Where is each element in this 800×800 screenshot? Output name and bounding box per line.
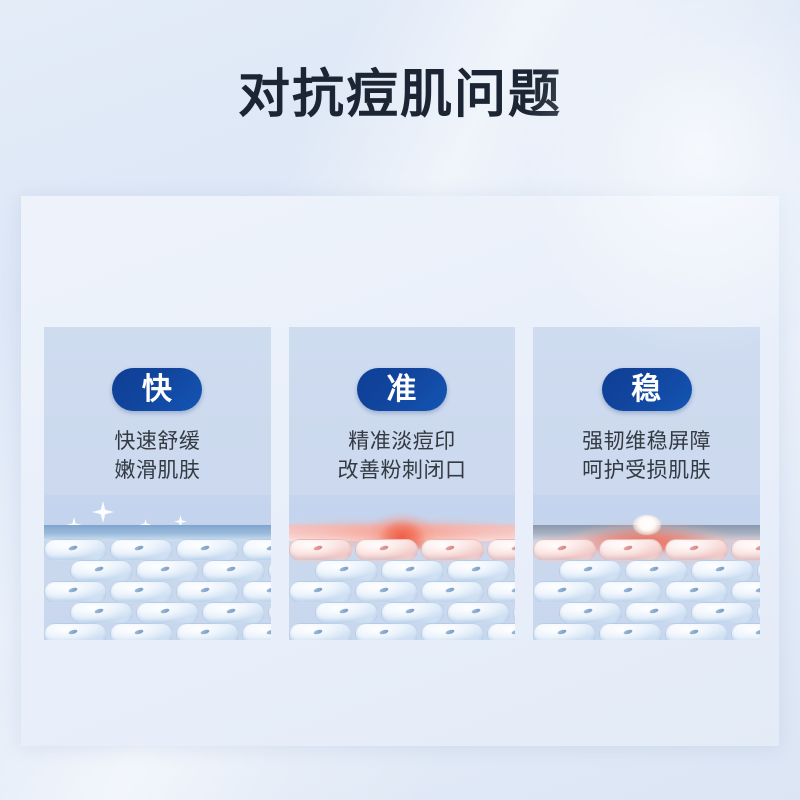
badge-label: 准 (387, 375, 418, 405)
skin-cell (44, 581, 107, 603)
panel-caption-precise: 精准淡痘印 改善粉刺闭口 (289, 427, 516, 485)
skin-cell (381, 560, 444, 582)
skin-cell (355, 581, 418, 603)
cell-row (44, 581, 271, 602)
panel-caption-fast: 快速舒缓 嫩滑肌肤 (44, 427, 271, 485)
promo-page: 对抗痘肌问题 快 快速舒缓 嫩滑肌肤 (0, 0, 800, 800)
cell-row (289, 581, 516, 602)
panel-caption-stable: 强韧维稳屏障 呵护受损肌肤 (533, 427, 760, 485)
skin-cell-grid (44, 539, 271, 640)
cell-row (44, 623, 271, 640)
skin-cell (757, 602, 760, 624)
skin-cell (731, 581, 760, 603)
skin-cell (202, 602, 265, 624)
feature-panel-stable[interactable]: 稳 强韧维稳屏障 呵护受损肌肤 (533, 327, 760, 640)
skin-cell (421, 623, 484, 640)
badge-pill-fast: 快 (112, 368, 202, 411)
skin-cell (625, 560, 688, 582)
skin-cell (665, 623, 728, 640)
skin-cell (691, 560, 754, 582)
skin-cell (176, 581, 239, 603)
cell-row (289, 623, 516, 640)
cell-row (289, 560, 516, 581)
skin-cell (447, 602, 510, 624)
skin-cell (268, 602, 271, 624)
feature-panel-row: 快 快速舒缓 嫩滑肌肤 (44, 327, 760, 640)
skin-cell (242, 581, 271, 603)
caption-line-1: 强韧维稳屏障 (533, 427, 760, 456)
skin-cell (533, 581, 596, 603)
cell-row (533, 539, 760, 560)
skin-cell (533, 539, 596, 561)
badge-label: 稳 (631, 375, 662, 405)
skin-illustration-pustule (533, 495, 760, 640)
cell-row (44, 560, 271, 581)
cell-row (533, 623, 760, 640)
skin-cell (289, 623, 352, 640)
skin-cell (665, 581, 728, 603)
skin-cell (289, 539, 352, 561)
skin-cell (268, 560, 271, 582)
caption-line-2: 改善粉刺闭口 (289, 456, 516, 485)
skin-cell (242, 539, 271, 561)
caption-line-1: 快速舒缓 (44, 427, 271, 456)
skin-cell (70, 560, 133, 582)
badge-pill-precise: 准 (357, 368, 447, 411)
cell-row (533, 560, 760, 581)
cell-row (44, 539, 271, 560)
feature-panel-fast[interactable]: 快 快速舒缓 嫩滑肌肤 (44, 327, 271, 640)
skin-cell (315, 560, 378, 582)
skin-cell (487, 623, 516, 640)
badge-pill-stable: 稳 (602, 368, 692, 411)
skin-cell (355, 623, 418, 640)
skin-cell (599, 539, 662, 561)
skin-illustration-papule (289, 495, 516, 640)
skin-cell (487, 581, 516, 603)
skin-cell (731, 623, 760, 640)
pustule-head-icon (633, 515, 661, 535)
skin-cell (559, 602, 622, 624)
skin-cell (691, 602, 754, 624)
skin-cell (136, 602, 199, 624)
skin-cell (487, 539, 516, 561)
page-title: 对抗痘肌问题 (238, 66, 562, 124)
skin-cell (44, 539, 107, 561)
skin-cell (513, 560, 516, 582)
skin-cell (70, 602, 133, 624)
skin-cell (242, 623, 271, 640)
skin-cell (110, 581, 173, 603)
content-card: 快 快速舒缓 嫩滑肌肤 (21, 196, 779, 746)
skin-cell-grid (289, 539, 516, 640)
skin-cell (289, 581, 352, 603)
skin-cell (381, 602, 444, 624)
skin-cell (599, 623, 662, 640)
skin-cell (315, 602, 378, 624)
skin-cell (599, 581, 662, 603)
cell-row (289, 539, 516, 560)
cell-row (289, 602, 516, 623)
skin-cell (44, 623, 107, 640)
skin-cell (421, 539, 484, 561)
skin-cell (533, 623, 596, 640)
skin-cell (355, 539, 418, 561)
skin-cell (176, 539, 239, 561)
skin-cell (757, 560, 760, 582)
skin-cell (559, 560, 622, 582)
skin-cell (421, 581, 484, 603)
skin-cell (665, 539, 728, 561)
page-title-container: 对抗痘肌问题 (0, 66, 800, 124)
cell-row (44, 602, 271, 623)
caption-line-2: 嫩滑肌肤 (44, 456, 271, 485)
cell-row (533, 581, 760, 602)
skin-cell (447, 560, 510, 582)
skin-cell (110, 539, 173, 561)
skin-cell (202, 560, 265, 582)
feature-panel-precise[interactable]: 准 精准淡痘印 改善粉刺闭口 (289, 327, 516, 640)
skin-cell (731, 539, 760, 561)
skin-cell (176, 623, 239, 640)
skin-cell (136, 560, 199, 582)
skin-cell (625, 602, 688, 624)
skin-illustration-healthy (44, 495, 271, 640)
skin-cell (513, 602, 516, 624)
caption-line-1: 精准淡痘印 (289, 427, 516, 456)
cell-row (533, 602, 760, 623)
skin-cell-grid (533, 539, 760, 640)
caption-line-2: 呵护受损肌肤 (533, 456, 760, 485)
skin-cell (110, 623, 173, 640)
badge-label: 快 (142, 375, 173, 405)
